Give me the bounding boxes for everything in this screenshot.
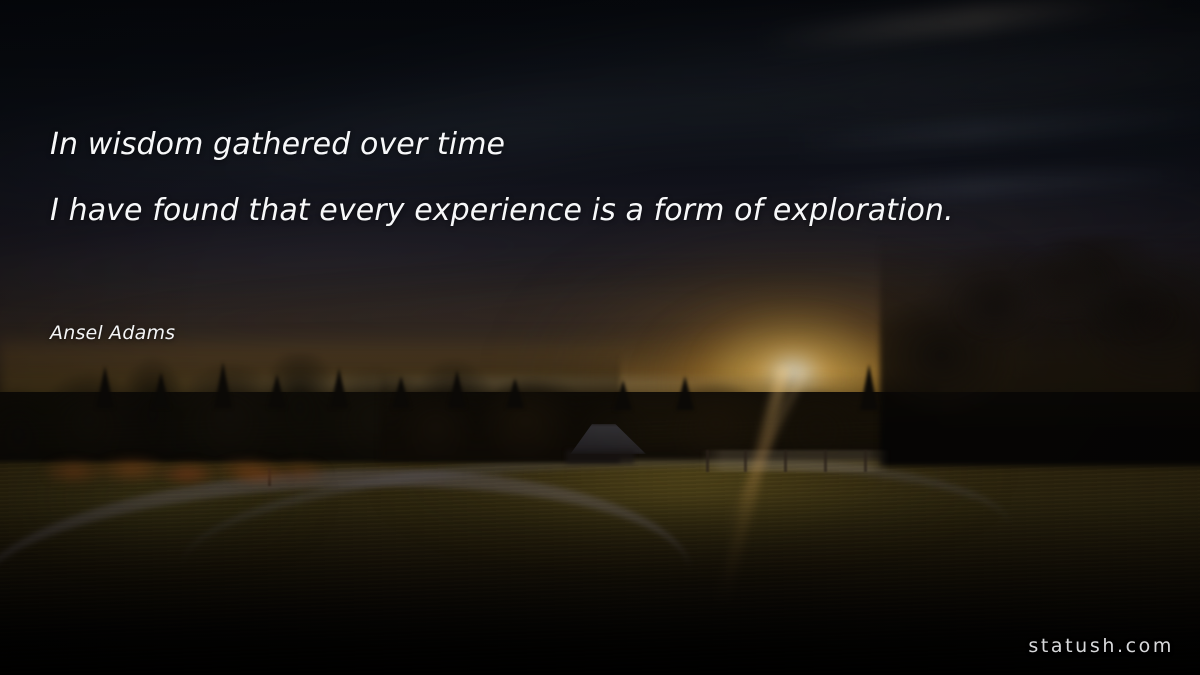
conifer-tree [676,376,694,410]
conifer-tree [268,374,286,408]
conifer-tree [96,366,114,408]
conifer-tree [392,376,410,408]
fence-post [784,450,787,472]
fence-rail [700,450,890,472]
quote-line-1: In wisdom gathered over time [50,112,1060,178]
conifer-tree [614,380,632,410]
barn-body [566,450,634,464]
fence-post [824,450,827,472]
conifer-tree [448,370,466,408]
conifer-tree [330,368,348,408]
fence-post [864,450,867,472]
quote-poster: In wisdom gathered over time I have foun… [0,0,1200,675]
conifer-tree [214,362,232,408]
autumn-shrubs-2 [150,462,330,488]
fence-post [706,450,709,472]
fence-post [744,450,747,472]
foreground-shadow [0,495,1200,675]
conifer-tree [860,364,878,410]
site-watermark: statush.com [1028,635,1174,657]
conifer-tree [506,378,524,408]
tree-canopy-right [940,244,1190,394]
quote-author: Ansel Adams [50,320,175,346]
quote-line-2: I have found that every experience is a … [50,178,1060,244]
conifer-tree [152,372,170,408]
quote-block: In wisdom gathered over time I have foun… [50,112,1060,244]
